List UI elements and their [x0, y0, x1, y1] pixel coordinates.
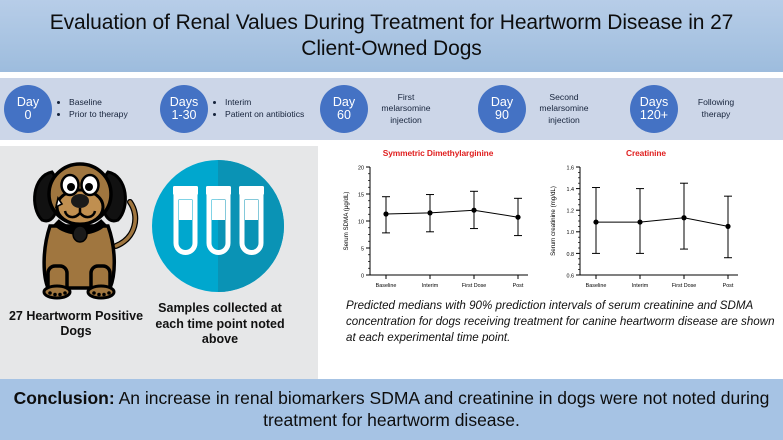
timeline-step-2-circle: Days 1-30 [160, 85, 208, 133]
timeline-step-1-detail-line-1: Baseline [69, 97, 128, 109]
timeline-step-5-circle: Days 120+ [630, 85, 678, 133]
svg-text:Baseline: Baseline [586, 283, 607, 289]
timeline-step-3-circle: Day 60 [320, 85, 368, 133]
timeline-step-4[interactable]: Day 90 Second melarsomine injection [478, 72, 597, 146]
svg-text:15: 15 [358, 192, 364, 198]
tubes-caption: Samples collected at each time point not… [146, 301, 294, 348]
svg-text:Interim: Interim [632, 283, 649, 289]
svg-text:1.2: 1.2 [567, 209, 575, 215]
svg-text:0.8: 0.8 [567, 252, 575, 258]
conclusion-banner: Conclusion: An increase in renal biomark… [0, 379, 783, 440]
svg-text:1.4: 1.4 [567, 187, 575, 193]
svg-text:Post: Post [513, 283, 524, 289]
svg-text:0.6: 0.6 [567, 273, 575, 279]
svg-text:10: 10 [358, 219, 364, 225]
chart-sdma: Symmetric Dimethylarginine 05101520Serum… [340, 148, 536, 304]
svg-text:Interim: Interim [422, 283, 439, 289]
timeline-step-5-circle-bottom: 120+ [640, 109, 668, 123]
conclusion-text-wrap: Conclusion: An increase in renal biomark… [0, 388, 783, 431]
timeline-step-3-circle-bottom: 60 [337, 109, 351, 123]
charts-panel: Symmetric Dimethylarginine 05101520Serum… [318, 146, 783, 379]
svg-text:First Dose: First Dose [672, 283, 697, 289]
timeline-step-4-circle-top: Day [491, 96, 513, 110]
timeline-step-5-detail: Following therapy [683, 97, 749, 120]
svg-text:1.0: 1.0 [567, 230, 575, 236]
chart-sdma-plot: 05101520Serum SDMA (µg/dL)BaselineInteri… [340, 159, 536, 299]
timeline-step-2[interactable]: Days 1-30 Interim Patient on antibiotics [160, 72, 304, 146]
svg-text:Post: Post [723, 283, 734, 289]
timeline-step-2-circle-bottom: 1-30 [171, 109, 196, 123]
test-tubes-icon [152, 160, 284, 292]
svg-text:20: 20 [358, 165, 364, 171]
svg-text:0: 0 [361, 273, 364, 279]
timeline-step-4-detail: Second melarsomine injection [531, 92, 597, 127]
timeline-step-2-detail-line-1: Interim [225, 97, 304, 109]
timeline-step-3-circle-top: Day [333, 96, 355, 110]
chart-creatinine-title: Creatinine [546, 148, 746, 158]
timeline-step-1-detail: Baseline Prior to therapy [59, 97, 128, 120]
svg-text:Serum creatinine (mg/dL): Serum creatinine (mg/dL) [550, 186, 557, 256]
dog-illustration-icon [12, 154, 147, 304]
timeline-step-2-detail-line-2: Patient on antibiotics [225, 109, 304, 121]
timeline-step-2-circle-top: Days [170, 96, 198, 110]
timeline-step-1-detail-line-2: Prior to therapy [69, 109, 128, 121]
timeline-step-1[interactable]: Day 0 Baseline Prior to therapy [4, 72, 128, 146]
timeline-step-2-detail: Interim Patient on antibiotics [215, 97, 304, 120]
svg-text:Baseline: Baseline [376, 283, 397, 289]
timeline-step-5-circle-top: Days [640, 96, 668, 110]
timeline-step-3-detail: First melarsomine injection [373, 92, 439, 127]
timeline-step-1-circle: Day 0 [4, 85, 52, 133]
svg-text:1.6: 1.6 [567, 165, 575, 171]
chart-creatinine: Creatinine 0.60.81.01.21.41.6Serum creat… [546, 148, 746, 304]
chart-sdma-title: Symmetric Dimethylarginine [340, 148, 536, 158]
figure-caption: Predicted medians with 90% prediction in… [346, 298, 776, 345]
timeline-step-1-circle-bottom: 0 [25, 109, 32, 123]
left-illustration-panel: 27 Heartworm Positive Dogs Samples colle… [0, 146, 318, 379]
svg-text:First Dose: First Dose [462, 283, 487, 289]
conclusion-label: Conclusion: [14, 388, 115, 408]
timeline-step-4-circle: Day 90 [478, 85, 526, 133]
svg-text:Serum SDMA (µg/dL): Serum SDMA (µg/dL) [343, 192, 350, 251]
poster-header: Evaluation of Renal Values During Treatm… [0, 0, 783, 72]
timeline-step-5[interactable]: Days 120+ Following therapy [630, 72, 749, 146]
poster-root: Evaluation of Renal Values During Treatm… [0, 0, 783, 440]
conclusion-body: An increase in renal biomarkers SDMA and… [115, 388, 770, 429]
page-title: Evaluation of Renal Values During Treatm… [0, 10, 783, 61]
dog-caption: 27 Heartworm Positive Dogs [6, 309, 146, 340]
svg-text:5: 5 [361, 246, 364, 252]
timeline-step-3[interactable]: Day 60 First melarsomine injection [320, 72, 439, 146]
timeline-step-4-circle-bottom: 90 [495, 109, 509, 123]
chart-creatinine-plot: 0.60.81.01.21.41.6Serum creatinine (mg/d… [546, 159, 746, 299]
timeline-step-1-circle-top: Day [17, 96, 39, 110]
